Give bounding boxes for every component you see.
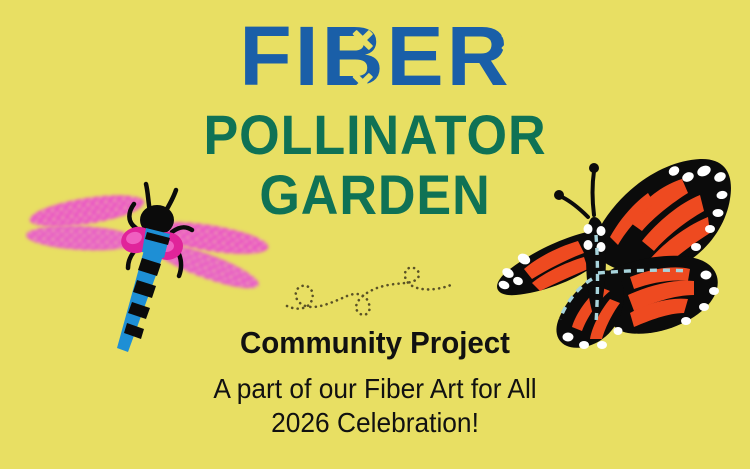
tagline: A part of our Fiber Art for All 2026 Cel… — [23, 372, 728, 440]
community-project-heading: Community Project — [19, 327, 732, 360]
dotted-flight-trail-icon — [285, 262, 455, 318]
title-fiber-text: FIBER — [239, 9, 511, 103]
dragonfly-wing-lower-left — [25, 223, 138, 253]
title-line-fiber: FIBER — [239, 18, 511, 95]
title-block: FIBER POLLINATOR GARDEN — [0, 18, 750, 223]
butterfly-forewing-left — [497, 231, 592, 295]
title-line-pollinator: POLLINATOR — [26, 107, 724, 163]
poster-canvas: FIBER POLLINATOR GARDEN — [0, 0, 750, 469]
tagline-line-2: 2026 Celebration! — [23, 406, 728, 440]
tagline-line-1: A part of our Fiber Art for All — [23, 372, 728, 406]
subtitle-block: Community Project A part of our Fiber Ar… — [0, 327, 750, 440]
title-line-garden: GARDEN — [26, 167, 724, 223]
